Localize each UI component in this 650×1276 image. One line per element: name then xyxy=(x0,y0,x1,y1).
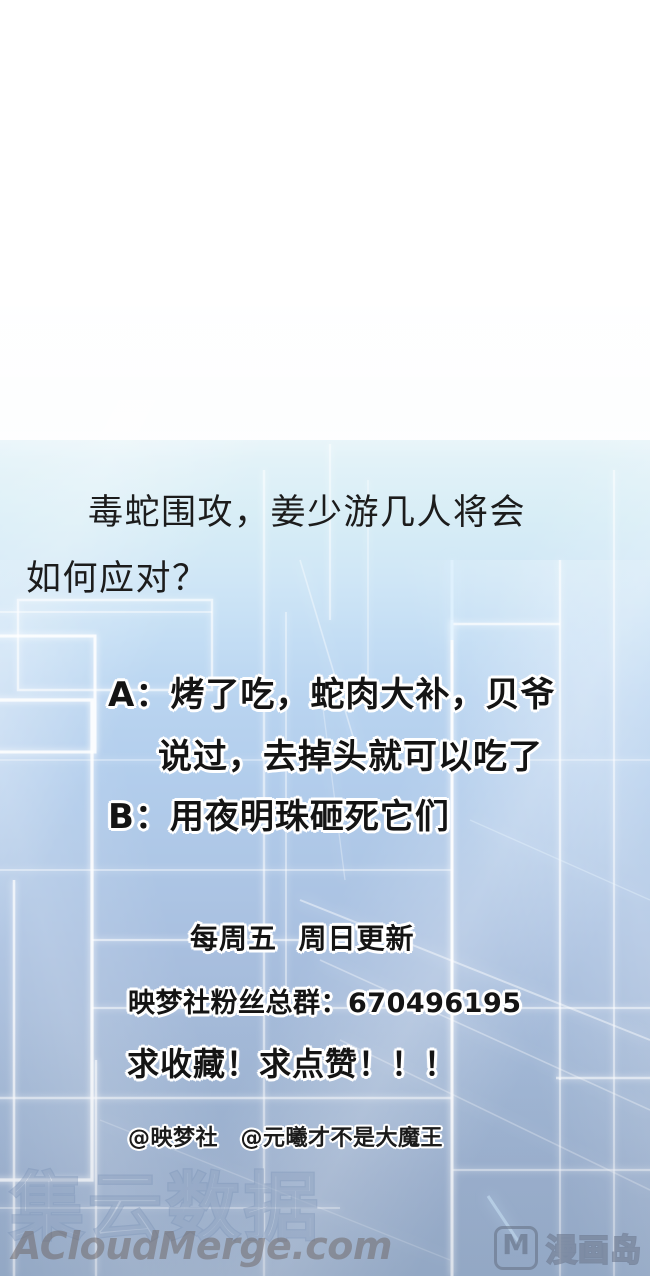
site-logo: M 漫画岛 xyxy=(494,1225,642,1270)
content-layer: 毒蛇围攻，姜少游几人将会 如何应对？ A：烤了吃，蛇肉大补，贝爷 说过，去掉头就… xyxy=(0,0,650,1276)
credits-text: @映梦社 @元曦才不是大魔王 xyxy=(128,1128,443,1150)
option-b-line-1[interactable]: B：用夜明珠砸死它们 xyxy=(108,800,450,834)
site-logo-mark-icon: M xyxy=(494,1226,538,1270)
update-schedule-text: 每周五 周日更新 xyxy=(190,925,415,953)
call-to-action-text: 求收藏！求点赞！！！ xyxy=(127,1048,457,1080)
option-a-line-1[interactable]: A：烤了吃，蛇肉大补，贝爷 xyxy=(108,678,555,712)
comic-end-page: 毒蛇围攻，姜少游几人将会 如何应对？ A：烤了吃，蛇肉大补，贝爷 说过，去掉头就… xyxy=(0,0,650,1276)
option-a-line-2[interactable]: 说过，去掉头就可以吃了 xyxy=(158,740,543,774)
question-line-1: 毒蛇围攻，姜少游几人将会 xyxy=(88,496,526,531)
question-line-2: 如何应对？ xyxy=(26,562,209,597)
site-logo-name: 漫画岛 xyxy=(546,1225,642,1270)
fan-group-text: 映梦社粉丝总群：670496195 xyxy=(128,990,522,1017)
watermark-domain: ACloudMerge.com xyxy=(12,1224,392,1268)
